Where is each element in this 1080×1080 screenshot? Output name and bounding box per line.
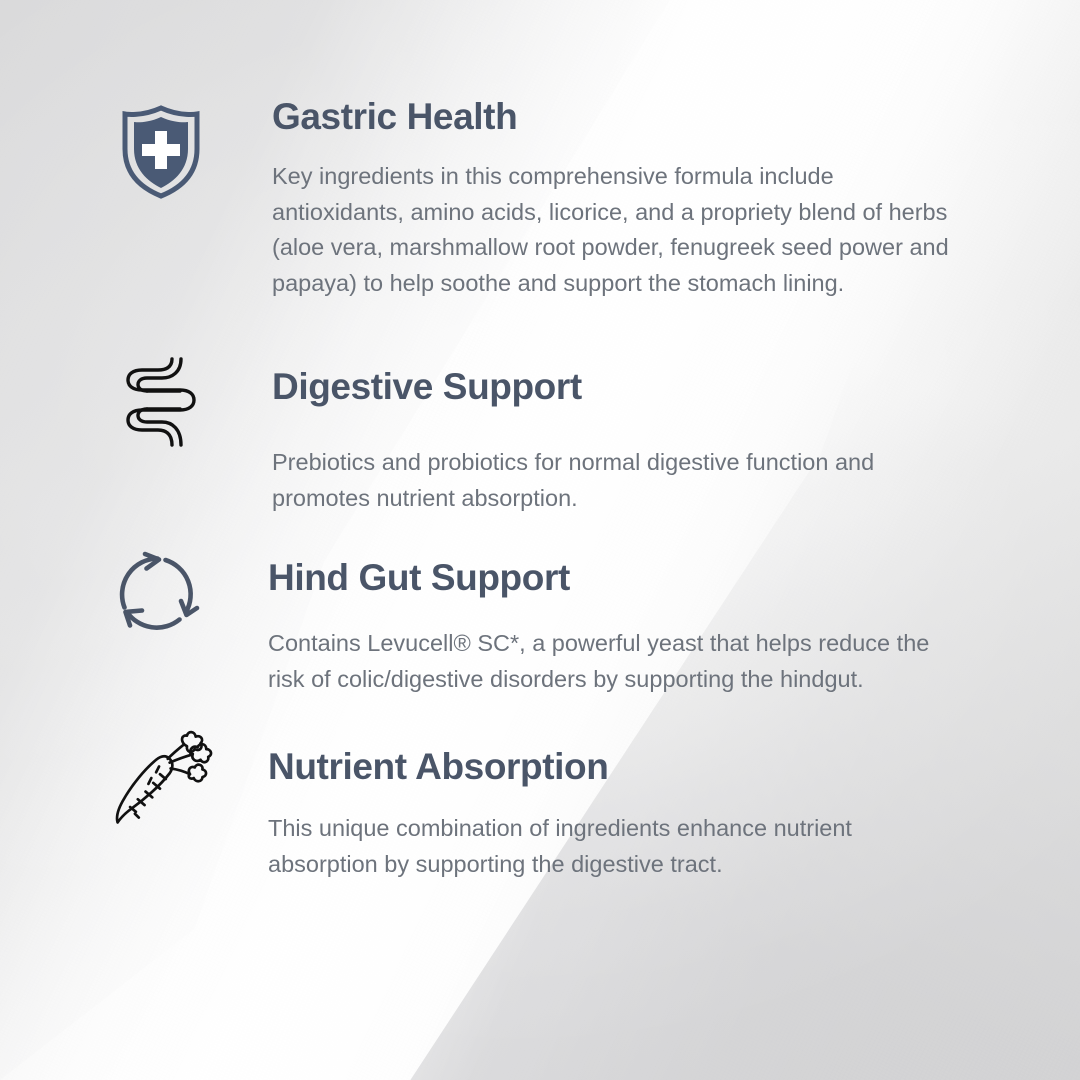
intestine-icon [125, 356, 197, 448]
feature-text-column: Hind Gut Support Contains Levucell® SC*,… [206, 543, 988, 697]
feature-icon-slot [108, 543, 206, 637]
feature-title: Nutrient Absorption [268, 748, 986, 787]
carrot-icon [106, 724, 214, 836]
feature-icon-slot [112, 98, 210, 199]
features-list: Gastric Health Key ingredients in this c… [0, 0, 1080, 1080]
cycle-arrows-icon [113, 549, 201, 637]
feature-icon-slot [106, 722, 214, 836]
feature-body: Contains Levucell® SC*, a powerful yeast… [268, 626, 968, 697]
feature-text-column: Nutrient Absorption This unique combinat… [214, 722, 986, 882]
feature-icon-slot [112, 352, 210, 448]
feature-body: This unique combination of ingredients e… [268, 811, 918, 882]
feature-gastric-health: Gastric Health Key ingredients in this c… [112, 98, 972, 302]
feature-title: Digestive Support [272, 368, 972, 407]
feature-text-column: Gastric Health Key ingredients in this c… [210, 98, 972, 302]
feature-body: Prebiotics and probiotics for normal dig… [272, 445, 937, 516]
feature-digestive-support: Digestive Support Prebiotics and probiot… [112, 352, 972, 516]
infographic-canvas: Gastric Health Key ingredients in this c… [0, 0, 1080, 1080]
feature-title: Gastric Health [272, 98, 972, 137]
feature-title: Hind Gut Support [268, 559, 988, 598]
shield-cross-icon [119, 104, 203, 199]
feature-text-column: Digestive Support Prebiotics and probiot… [210, 352, 972, 516]
feature-hind-gut-support: Hind Gut Support Contains Levucell® SC*,… [108, 543, 988, 697]
feature-body: Key ingredients in this comprehensive fo… [272, 159, 952, 302]
feature-nutrient-absorption: Nutrient Absorption This unique combinat… [106, 722, 986, 882]
